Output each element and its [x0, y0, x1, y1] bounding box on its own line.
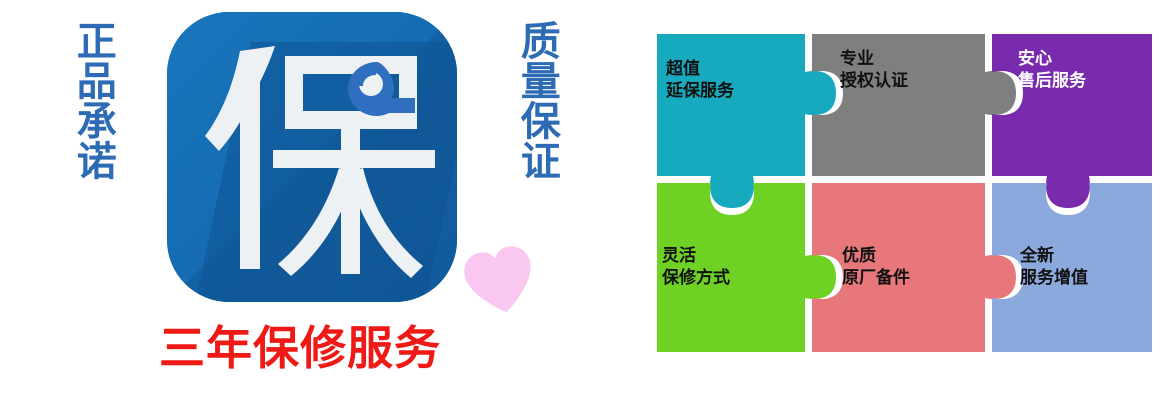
brand-panel: 正品承诺 质量保证 [0, 0, 600, 420]
quality-guarantee-text: 质量保证 [516, 20, 557, 180]
warranty-caption: 三年保修服务 [0, 312, 600, 378]
authenticity-promise-text: 正品承诺 [72, 20, 113, 180]
puzzle-shape-value-extended-warranty[interactable] [657, 34, 836, 208]
puzzle-shape-new-service-value[interactable] [992, 183, 1152, 352]
puzzle-shape-flexible-warranty-method[interactable] [657, 183, 836, 352]
puzzle-shape-worry-free-after-sales[interactable] [992, 34, 1152, 208]
warranty-app-icon [167, 12, 457, 302]
heart-icon [462, 243, 538, 319]
puzzle-shape-quality-original-parts[interactable] [812, 183, 1016, 352]
bao-character-glyph [167, 12, 457, 302]
service-features-puzzle: 超值 延保服务 专业 授权认证 安心 售后服务 灵活 保修方式 优质 原厂备件 … [640, 0, 1168, 420]
puzzle-shape-professional-authorization[interactable] [812, 34, 1016, 176]
